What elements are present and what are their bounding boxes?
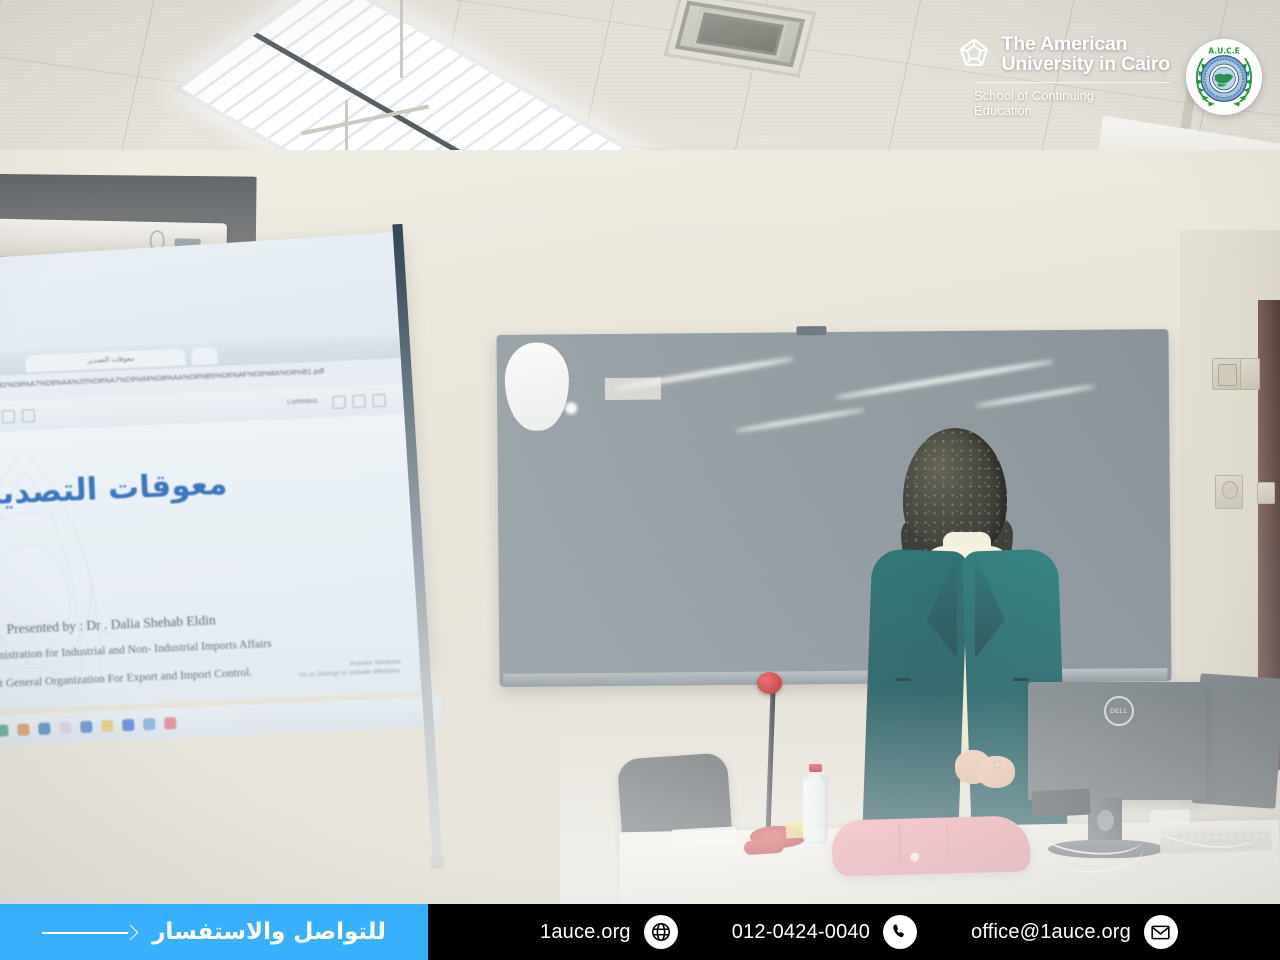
bottle-cap (809, 764, 822, 772)
switch-rocker (1222, 481, 1238, 499)
whiteboard-highlight (565, 402, 577, 414)
hand-right (977, 756, 1015, 788)
pink-handbag (831, 815, 1030, 877)
more-options-icon[interactable] (372, 394, 386, 408)
taskbar-app-icon-6[interactable] (59, 722, 72, 735)
vent-louvers (691, 8, 789, 60)
dell-monitor: DELL (1028, 682, 1206, 800)
footer-cta-text-arabic: للتواصل والاستفسار (152, 919, 386, 945)
bottle-body (803, 776, 828, 844)
footer-arrow-icon (42, 926, 136, 938)
wall-outlet-plate (1212, 358, 1242, 390)
presentation-photo-banner: معوقات التصدير معوقات التصدير file:///C:… (0, 0, 1280, 960)
footer-contact-email[interactable]: office@1auce.org (971, 915, 1178, 949)
auce-badge-text: A.U.C.E (1208, 46, 1240, 55)
taskbar-app-icon-4[interactable] (17, 723, 30, 736)
fit-page-icon[interactable] (22, 409, 36, 423)
whiteboard-frame (496, 329, 1171, 687)
taskbar-app-icon-3[interactable] (0, 724, 9, 737)
microphone-head (757, 672, 782, 694)
arrow-head (123, 925, 139, 941)
auc-pentagon-logo-icon (957, 37, 991, 71)
download-icon[interactable] (352, 395, 366, 409)
wall-light-switch (1215, 475, 1243, 509)
auc-line-2: University in Cairo (1001, 54, 1170, 74)
auc-line-1: The American (1001, 34, 1170, 54)
blazer-pocket-right (1013, 678, 1029, 681)
water-bottle (803, 764, 828, 844)
footer-email-text: office@1auce.org (971, 921, 1131, 944)
projection-screen: معوقات التصدير معوقات التصدير file:///C:… (0, 150, 467, 750)
phone-icon (883, 915, 917, 949)
footer-phone-text: 012-0424-0040 (732, 921, 870, 944)
arrow-line (42, 932, 128, 934)
wall-plate-small (1257, 482, 1275, 504)
classroom-scene: معوقات التصدير معوقات التصدير file:///C:… (0, 0, 1280, 960)
taskbar-app-icon-7[interactable] (80, 721, 93, 734)
desk-paper (672, 826, 737, 847)
ceiling-hanger-rod (400, 0, 403, 78)
auc-school-name: School of Continuing Education (974, 88, 1170, 120)
auc-brand-top-row: The American University in Cairo (957, 34, 1170, 75)
zoom-level-label: Luminous (287, 398, 318, 406)
bag-seam-1 (899, 825, 902, 863)
auc-name-block: The American University in Cairo (1001, 34, 1170, 75)
footer-contacts-panel: 1auce.org 012-0424-0040 (428, 904, 1280, 960)
windows-activation-watermark: Activate Windows Go to Settings to activ… (298, 657, 401, 681)
taskbar-app-icon-11[interactable] (164, 717, 177, 730)
pdf-slide-page: معوقات التصدير Presented by : Dr . Dalia… (0, 414, 420, 719)
footer-website-text: 1auce.org (540, 921, 631, 944)
taskbar-app-icon-8[interactable] (101, 720, 114, 733)
footer-contact-website[interactable]: 1auce.org (540, 915, 678, 949)
blazer-pocket-left (895, 678, 911, 681)
auc-brand-text: The American University in Cairo School … (957, 34, 1170, 119)
brand-divider (974, 82, 1170, 83)
taskbar-app-icon-9[interactable] (122, 719, 135, 732)
finger-ring (995, 762, 1000, 767)
school-line-1: School of Continuing (974, 88, 1170, 104)
bag-clasp (910, 852, 919, 861)
classroom-whiteboard (496, 329, 1171, 687)
bag-seam-2 (946, 824, 949, 862)
email-icon (1144, 915, 1178, 949)
rotate-icon[interactable] (2, 410, 16, 424)
screen-bottom-weight (430, 856, 445, 869)
globe-icon (644, 915, 678, 949)
auce-seal-graphic: A.U.C.E (1186, 39, 1262, 115)
auce-seal-badge: A.U.C.E (1186, 39, 1262, 115)
taskbar-app-icon-5[interactable] (38, 723, 51, 736)
projected-browser-window: معوقات التصدير معوقات التصدير file:///C:… (0, 334, 422, 721)
dell-logo-text: DELL (1110, 708, 1129, 715)
outlet-socket (1218, 364, 1237, 386)
auc-brand-lockup: The American University in Cairo School … (957, 34, 1262, 119)
print-icon[interactable] (332, 395, 346, 409)
taskbar-app-icon-10[interactable] (143, 718, 156, 731)
footer-contact-phone[interactable]: 012-0424-0040 (732, 915, 917, 949)
school-line-2: Education (974, 103, 1170, 119)
footer-cta-panel: للتواصل والاستفسار (0, 904, 428, 960)
whiteboard-clip (796, 326, 826, 335)
dell-logo: DELL (1104, 696, 1134, 726)
screen-surface: معوقات التصدير معوقات التصدير file:///C:… (0, 232, 429, 705)
whiteboard-note-card (605, 378, 661, 400)
wall-data-plate (1240, 358, 1260, 390)
presenter-hands (955, 746, 1017, 794)
desk-red-item (744, 839, 785, 856)
browser-new-tab-button[interactable] (191, 347, 218, 365)
contact-footer-bar: للتواصل والاستفسار 1auce.org 012-0424-00… (0, 904, 1280, 960)
